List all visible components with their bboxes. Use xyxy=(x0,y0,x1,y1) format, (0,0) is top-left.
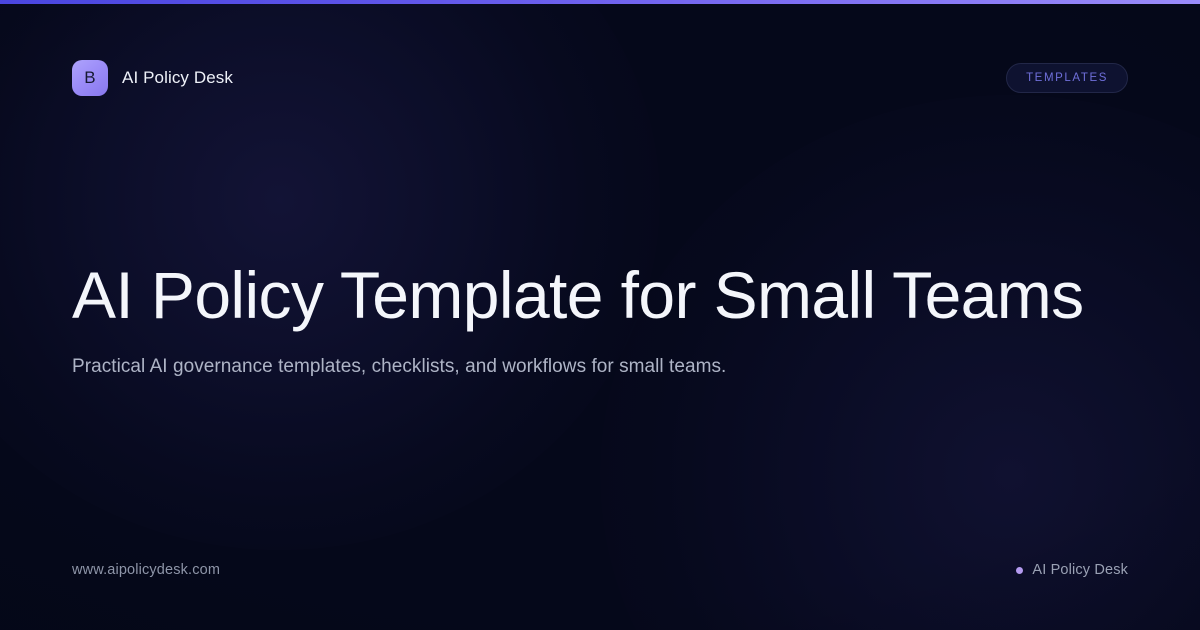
hero-section: AI Policy Template for Small Teams Pract… xyxy=(72,262,1128,381)
footer-brand-label: AI Policy Desk xyxy=(1032,562,1128,578)
top-accent-bar xyxy=(0,0,1200,4)
brand-lockup[interactable]: B AI Policy Desk xyxy=(72,60,233,96)
header: B AI Policy Desk TEMPLATES xyxy=(72,60,1128,96)
brand-name-label: AI Policy Desk xyxy=(122,68,233,88)
footer-brand-lockup: AI Policy Desk xyxy=(1016,562,1128,578)
templates-category-pill[interactable]: TEMPLATES xyxy=(1006,63,1128,93)
footer: www.aipolicydesk.com AI Policy Desk xyxy=(72,560,1128,580)
brand-logo-badge: B xyxy=(72,60,108,96)
page-title: AI Policy Template for Small Teams xyxy=(72,262,1128,328)
social-card-canvas: B AI Policy Desk TEMPLATES AI Policy Tem… xyxy=(0,0,1200,630)
footer-website-url[interactable]: www.aipolicydesk.com xyxy=(72,562,220,578)
page-subtitle: Practical AI governance templates, check… xyxy=(72,328,1128,381)
bullet-dot-icon xyxy=(1016,567,1023,574)
